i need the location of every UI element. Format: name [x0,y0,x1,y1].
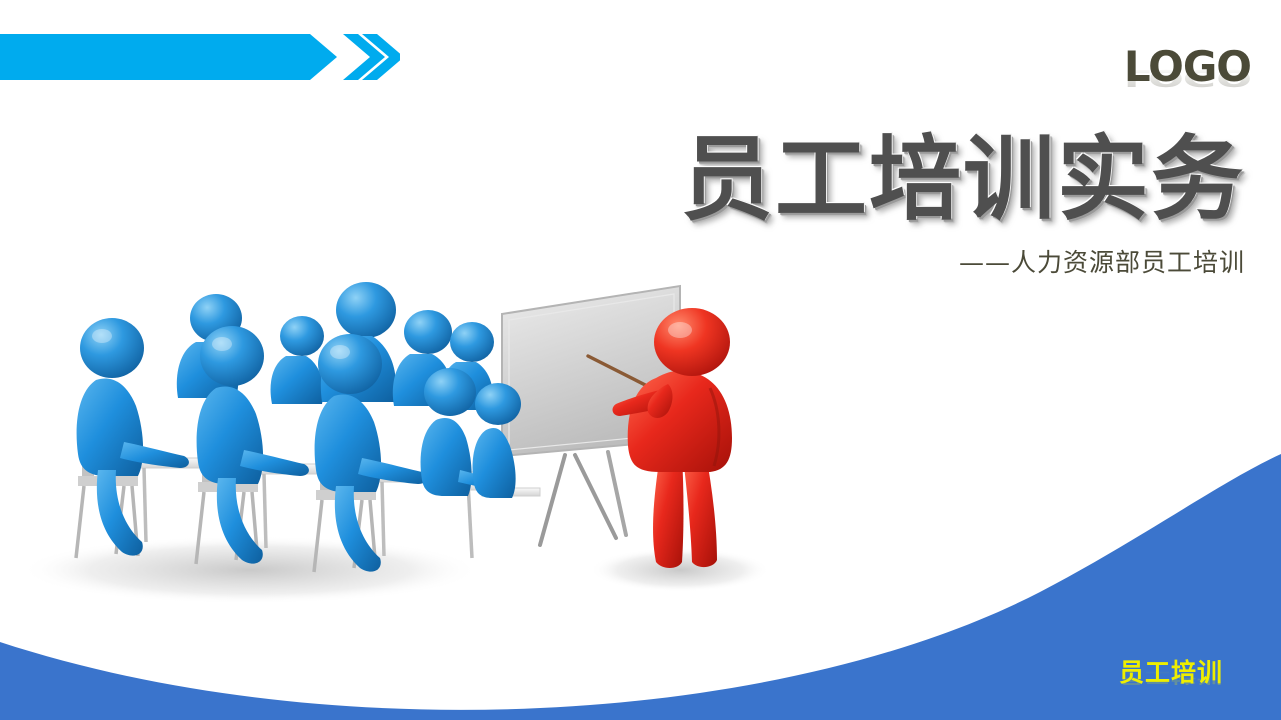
logo-reflection: LOGO [1124,66,1251,89]
footer-label-reflection: 员工培训 [1119,670,1223,685]
chevron-banner-icon [0,34,400,80]
audience-figure [314,334,476,572]
bottom-curve-decoration [0,420,1281,720]
footer-label-group: 员工培训 员工培训 [1119,660,1223,710]
presentation-slide: LOGO LOGO 员工培训实务 ——人力资源部员工培训 [0,0,1281,720]
audience-figure [321,282,396,402]
presenter-figure [588,308,732,568]
page-subtitle: ——人力资源部员工培训 [681,243,1245,279]
audience-figure [421,368,506,496]
classroom-training-illustration [20,270,800,610]
audience-figure [76,318,238,558]
audience-figure [196,326,358,564]
audience-figure [177,294,242,398]
whiteboard [502,286,680,545]
audience-figure [271,316,324,404]
audience-figure [473,383,541,498]
title-block: 员工培训实务 ——人力资源部员工培训 [681,132,1245,279]
logo: LOGO LOGO [1124,46,1251,131]
audience-figure [441,322,494,410]
page-title: 员工培训实务 [681,132,1245,229]
audience-figure [393,310,452,406]
